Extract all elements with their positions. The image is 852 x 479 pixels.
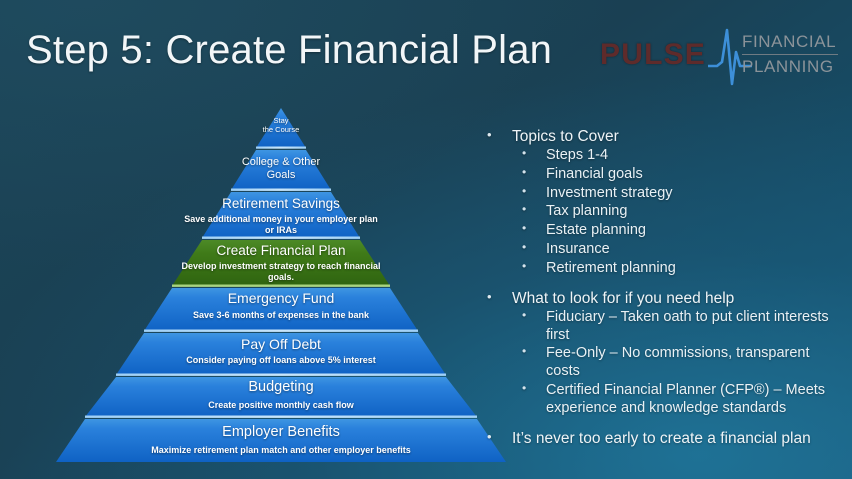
pyramid-tier-employer-benefits — [56, 419, 506, 462]
logo-subtitle-block: FINANCIAL PLANNING — [742, 32, 838, 77]
bullet-item: Financial goals — [482, 166, 842, 184]
bullet-item: Investment strategy — [482, 185, 842, 203]
pyramid-tier-create-financial-plan — [172, 240, 390, 287]
bullet-item: Estate planning — [482, 222, 842, 240]
bullet-item: Retirement planning — [482, 260, 842, 278]
logo-line-financial: FINANCIAL — [742, 32, 838, 53]
pyramid-tier-college-other-goals — [231, 150, 331, 191]
logo-divider — [742, 54, 838, 55]
slide-canvas: Step 5: Create Financial Plan PULSE FINA… — [0, 0, 852, 479]
pyramid-tier-pay-off-debt — [116, 333, 446, 376]
bullet-content-panel: Topics to Cover Steps 1-4 Financial goal… — [482, 128, 842, 449]
bullet-heading-topics-to-cover: Topics to Cover — [482, 128, 842, 146]
bullet-group-spacer — [482, 419, 842, 430]
pyramid-tier-stay-the-course — [256, 108, 306, 149]
bullet-item: Fee-Only – No commissions, transparent c… — [482, 345, 842, 381]
logo-line-planning: PLANNING — [742, 57, 838, 78]
bullet-item: Certified Financial Planner (CFP®) – Mee… — [482, 382, 842, 418]
brand-logo: PULSE FINANCIAL PLANNING — [600, 30, 838, 88]
bullet-item: Insurance — [482, 241, 842, 259]
financial-priority-pyramid: Stay the Course College & Other Goals Re… — [0, 0, 560, 479]
pyramid-graphic — [0, 0, 560, 479]
bullet-heading-what-to-look-for: What to look for if you need help — [482, 290, 842, 308]
bullet-item: Tax planning — [482, 203, 842, 221]
logo-brand-word: PULSE — [600, 38, 706, 72]
pyramid-tier-retirement-savings — [202, 192, 360, 239]
bullet-heading-closing-statement: It’s never too early to create a financi… — [482, 430, 842, 448]
bullet-item: Steps 1-4 — [482, 147, 842, 165]
pyramid-tier-emergency-fund — [144, 288, 418, 332]
pyramid-tier-budgeting — [85, 377, 477, 418]
bullet-group-spacer — [482, 279, 842, 290]
bullet-item: Fiduciary – Taken oath to put client int… — [482, 309, 842, 345]
